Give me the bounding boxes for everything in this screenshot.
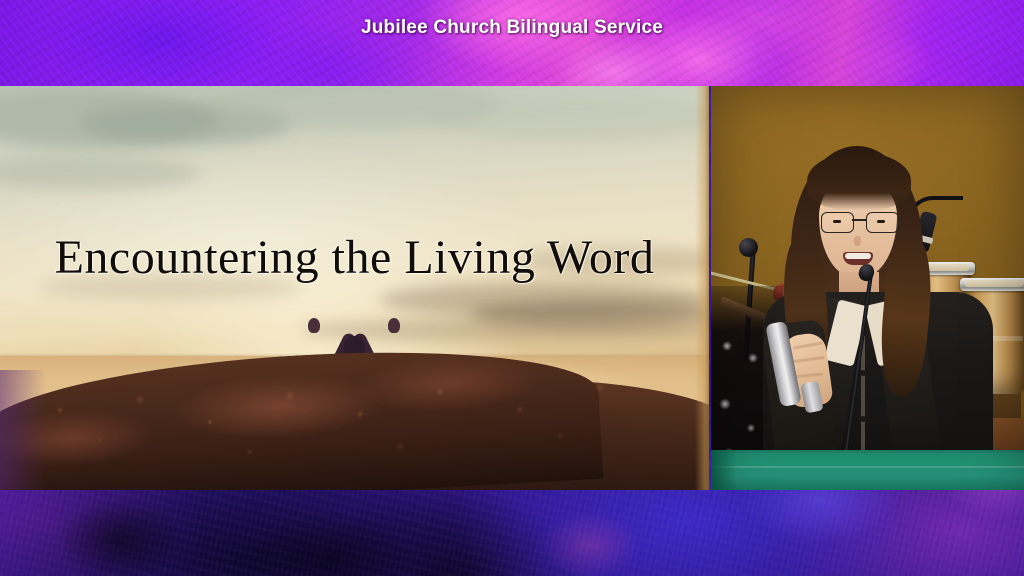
banner-streak-texture [0, 0, 1024, 86]
slide-right-edge [695, 86, 709, 490]
podium-drape [711, 454, 1024, 490]
speaker-video-feed [711, 86, 1024, 490]
rock-edge-tint [0, 370, 46, 490]
hand-right [388, 318, 400, 333]
sermon-slide: Encountering the Living Word [0, 86, 709, 490]
blouse-button [860, 416, 866, 422]
cloud-shape [430, 96, 709, 142]
sermon-title: Encountering the Living Word [0, 230, 709, 285]
hair-fringe [807, 152, 911, 210]
teeth [845, 253, 871, 259]
blouse-placket [861, 336, 865, 466]
hand-left [308, 318, 320, 333]
nose [854, 236, 861, 246]
rock-detail-texture [0, 370, 709, 490]
podium-bevel [711, 466, 1024, 468]
blouse-button [860, 370, 866, 376]
top-banner: Jubilee Church Bilingual Service [0, 0, 1024, 86]
eye-left [833, 220, 841, 223]
eyeglass-bridge [852, 219, 866, 221]
service-title: Jubilee Church Bilingual Service [0, 17, 1024, 39]
podium-shadow-edge [711, 450, 737, 490]
broadcast-stage: Jubilee Church Bilingual Service [0, 0, 1024, 576]
eye-right [877, 220, 885, 223]
